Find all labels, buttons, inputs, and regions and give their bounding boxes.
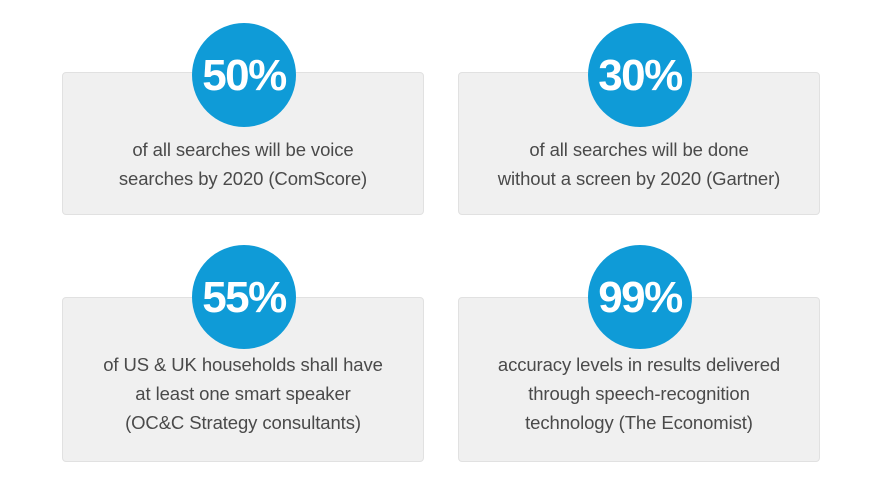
stat-caption: accuracy levels in results delivered thr… xyxy=(473,350,805,437)
stat-value: 99% xyxy=(598,276,682,320)
stat-badge-55-percent: 55% xyxy=(192,245,296,349)
stat-badge-30-percent: 30% xyxy=(588,23,692,127)
stat-badge-99-percent: 99% xyxy=(588,245,692,349)
stat-caption: of all searches will be voice searches b… xyxy=(77,135,409,193)
stat-value: 50% xyxy=(202,54,286,98)
stats-infographic: of all searches will be voice searches b… xyxy=(0,0,881,499)
stat-caption: of US & UK households shall have at leas… xyxy=(77,350,409,437)
stat-badge-50-percent: 50% xyxy=(192,23,296,127)
stat-value: 30% xyxy=(598,54,682,98)
stat-caption: of all searches will be done without a s… xyxy=(473,135,805,193)
stat-value: 55% xyxy=(202,276,286,320)
